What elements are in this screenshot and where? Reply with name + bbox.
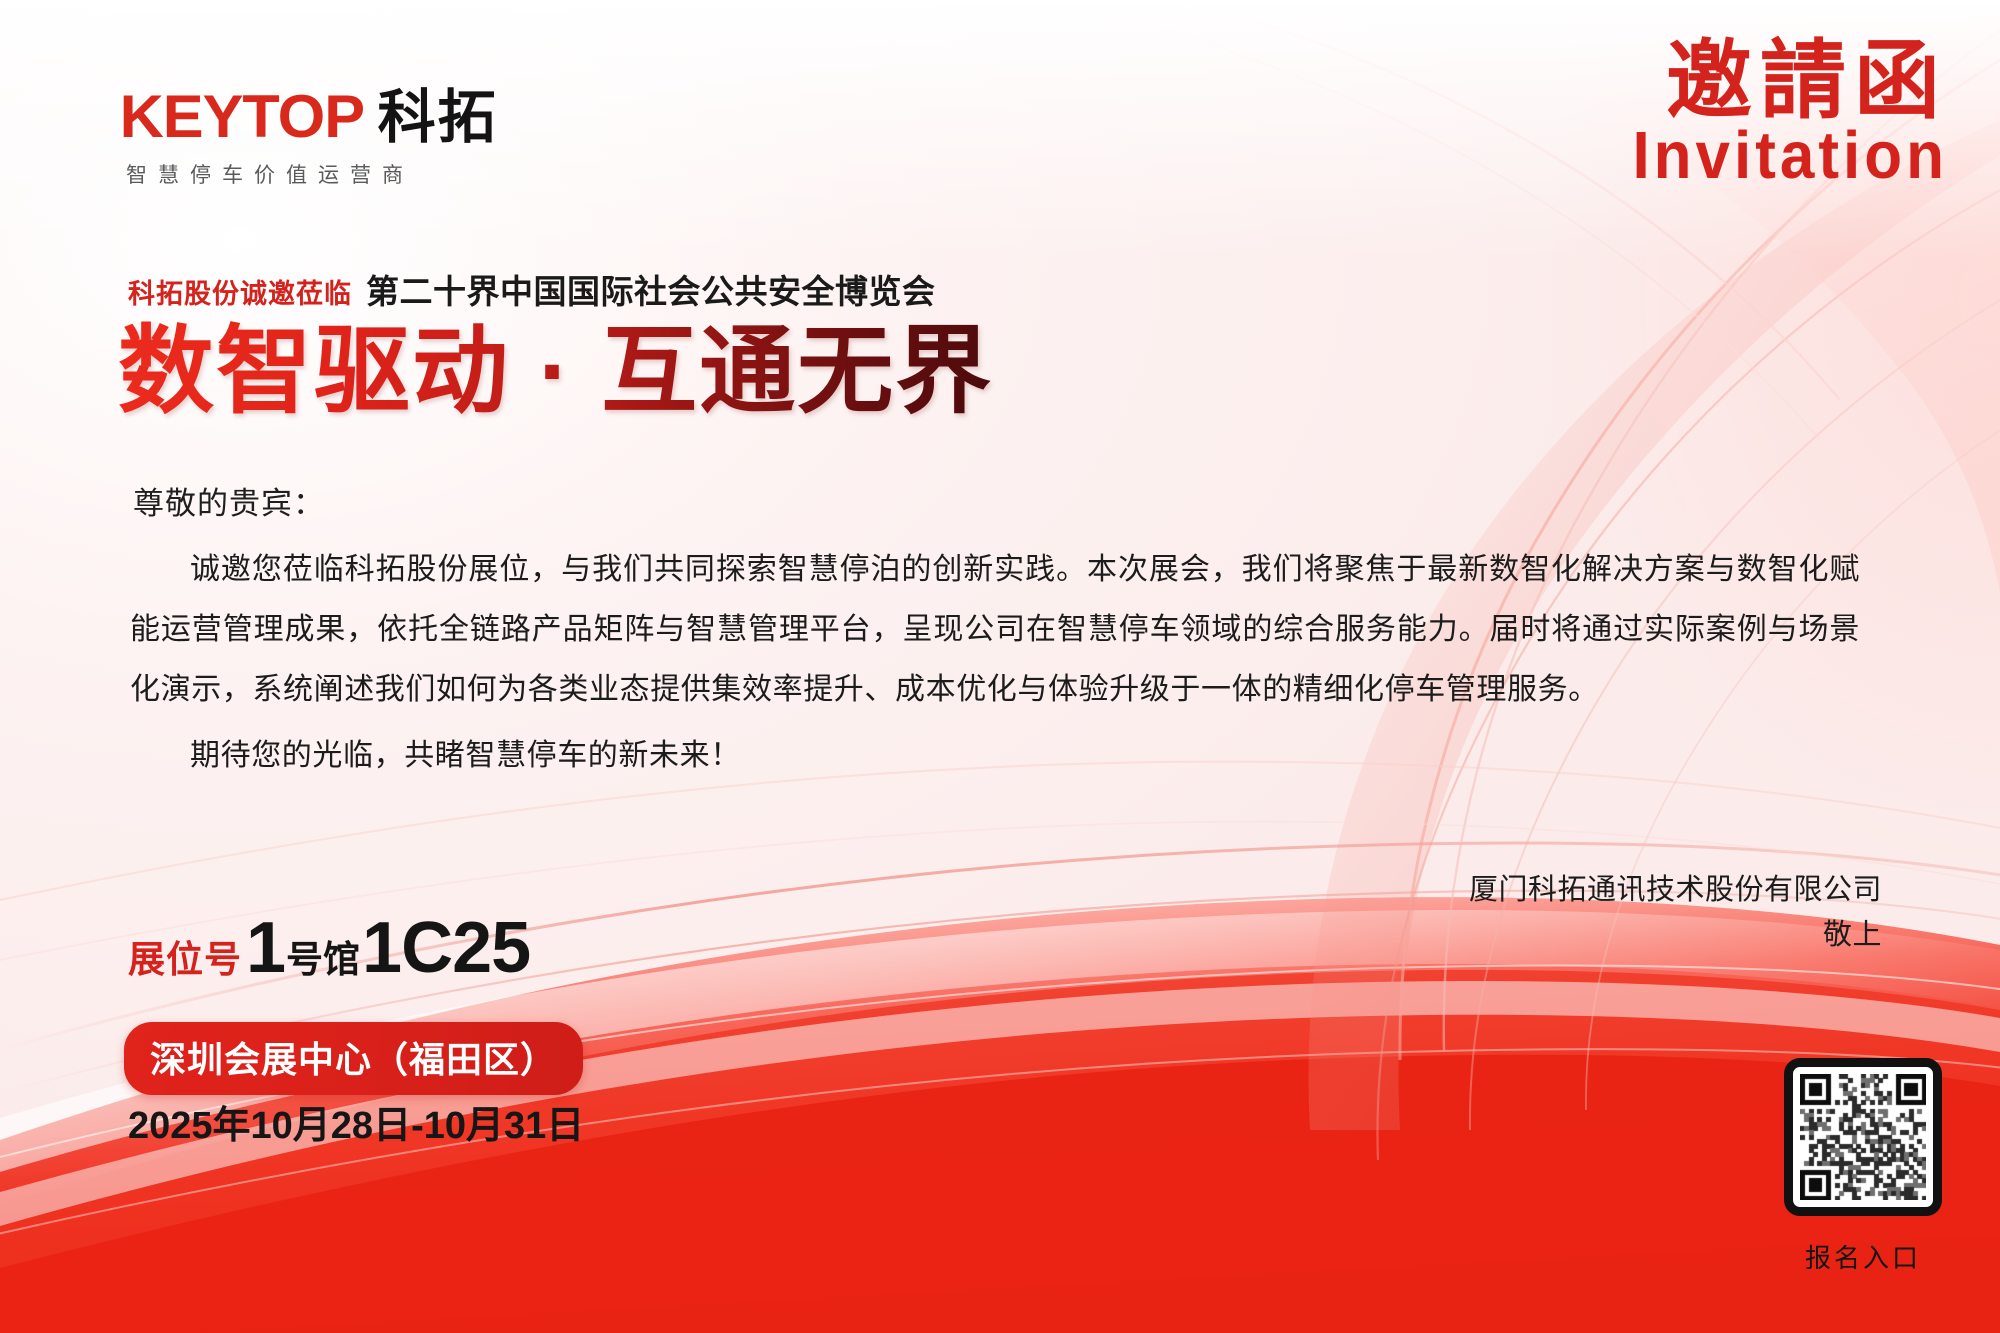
qr-block: 报名入口	[1784, 1058, 1942, 1275]
invitation-poster: KEYTOP 科拓 智慧停车价值运营商 邀請函 Invitation 科拓股份诚…	[0, 0, 2000, 1333]
booth-label: 展位号	[128, 929, 242, 983]
logo-wordmark-row: KEYTOP 科拓	[122, 88, 498, 147]
event-heading-line: 科拓股份诚邀莅临 第二十界中国国际社会公共安全博览会	[128, 265, 936, 313]
invite-prefix-text: 科拓股份诚邀莅临	[128, 272, 352, 311]
signature-block: 厦门科拓通讯技术股份有限公司 敬上	[1469, 868, 1882, 958]
qr-code-image[interactable]	[1800, 1074, 1926, 1200]
venue-badge: 深圳会展中心（福田区）	[124, 1022, 583, 1095]
invitation-mark: 邀請函 Invitation	[1632, 36, 1948, 190]
booth-hall-number: 1	[246, 912, 286, 984]
event-name-text: 第二十界中国国际社会公共安全博览会	[366, 265, 936, 313]
brand-logo: KEYTOP 科拓 智慧停车价值运营商	[122, 88, 498, 189]
logo-english-wordmark: KEYTOP	[120, 88, 364, 147]
signature-company: 厦门科拓通讯技术股份有限公司	[1469, 868, 1882, 913]
qr-caption: 报名入口	[1784, 1238, 1942, 1275]
letter-body: 诚邀您莅临科拓股份展位，与我们共同探索智慧停泊的创新实践。本次展会，我们将聚焦于…	[130, 540, 1860, 786]
letter-paragraph: 期待您的光临，共睹智慧停车的新未来！	[130, 726, 1860, 786]
booth-code: 1C25	[362, 912, 530, 984]
logo-chinese-wordmark: 科拓	[378, 89, 498, 147]
booth-info-row: 展位号 1 号馆 1C25	[128, 912, 530, 984]
signature-closing: 敬上	[1469, 913, 1882, 958]
invitation-mark-chinese: 邀請函	[1632, 36, 1948, 126]
event-dates: 2025年10月28日-10月31日	[128, 1094, 584, 1149]
invitation-mark-english: Invitation	[1632, 123, 1948, 190]
booth-hall-unit: 号馆	[286, 929, 360, 983]
event-slogan: 数智驱动 · 互通无界	[118, 318, 993, 426]
letter-salutation: 尊敬的贵宾：	[133, 478, 325, 523]
letter-paragraph: 诚邀您莅临科拓股份展位，与我们共同探索智慧停泊的创新实践。本次展会，我们将聚焦于…	[130, 540, 1860, 720]
brand-tagline: 智慧停车价值运营商	[126, 159, 498, 189]
qr-code[interactable]	[1784, 1058, 1942, 1216]
